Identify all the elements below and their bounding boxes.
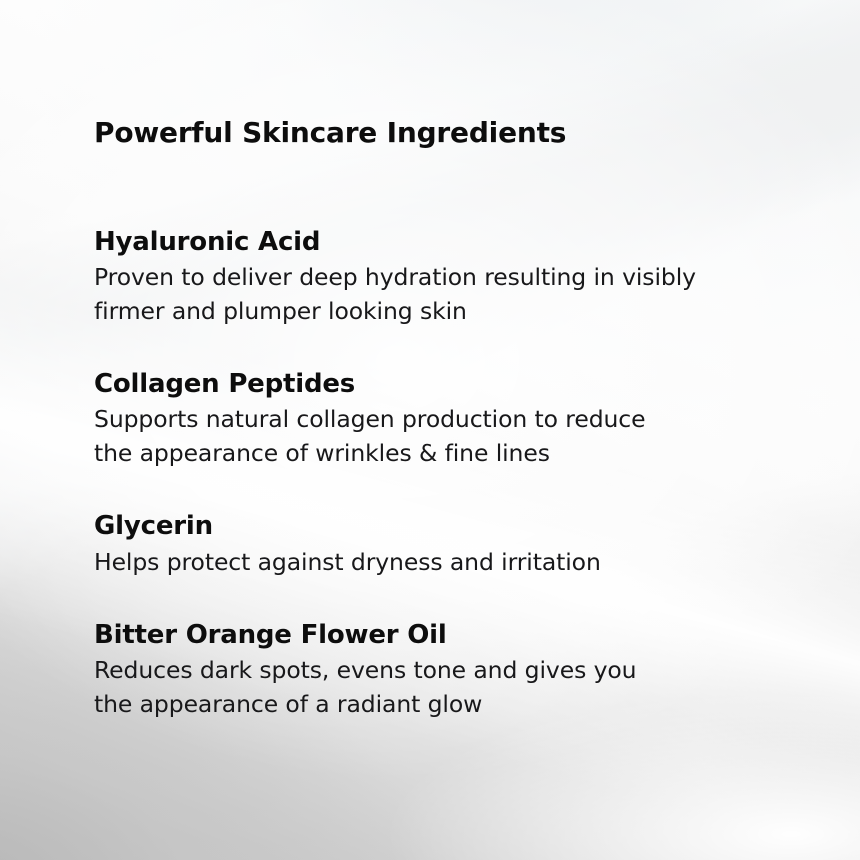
content-container: Powerful Skincare Ingredients Hyaluronic… xyxy=(94,0,814,860)
ingredient-list: Hyaluronic Acid Proven to deliver deep h… xyxy=(94,226,794,721)
ingredient-name: Hyaluronic Acid xyxy=(94,226,794,258)
ingredient-item-collagen-peptides: Collagen Peptides Supports natural colla… xyxy=(94,368,794,470)
ingredient-item-hyaluronic-acid: Hyaluronic Acid Proven to deliver deep h… xyxy=(94,226,794,328)
ingredient-name: Bitter Orange Flower Oil xyxy=(94,619,794,651)
ingredient-description: Proven to deliver deep hydration resulti… xyxy=(94,260,784,328)
ingredient-item-bitter-orange-flower-oil: Bitter Orange Flower Oil Reduces dark sp… xyxy=(94,619,794,721)
page-title: Powerful Skincare Ingredients xyxy=(94,116,566,149)
ingredient-name: Collagen Peptides xyxy=(94,368,794,400)
ingredient-description: Reduces dark spots, evens tone and gives… xyxy=(94,653,784,721)
description-line: the appearance of a radiant glow xyxy=(94,687,784,721)
ingredient-description: Supports natural collagen production to … xyxy=(94,402,784,470)
description-line: firmer and plumper looking skin xyxy=(94,294,784,328)
ingredient-item-glycerin: Glycerin Helps protect against dryness a… xyxy=(94,510,794,578)
ingredient-description: Helps protect against dryness and irrita… xyxy=(94,545,784,579)
description-line: Helps protect against dryness and irrita… xyxy=(94,545,784,579)
description-line: the appearance of wrinkles & fine lines xyxy=(94,436,784,470)
description-line: Proven to deliver deep hydration resulti… xyxy=(94,260,784,294)
description-line: Supports natural collagen production to … xyxy=(94,402,784,436)
ingredient-name: Glycerin xyxy=(94,510,794,542)
description-line: Reduces dark spots, evens tone and gives… xyxy=(94,653,784,687)
